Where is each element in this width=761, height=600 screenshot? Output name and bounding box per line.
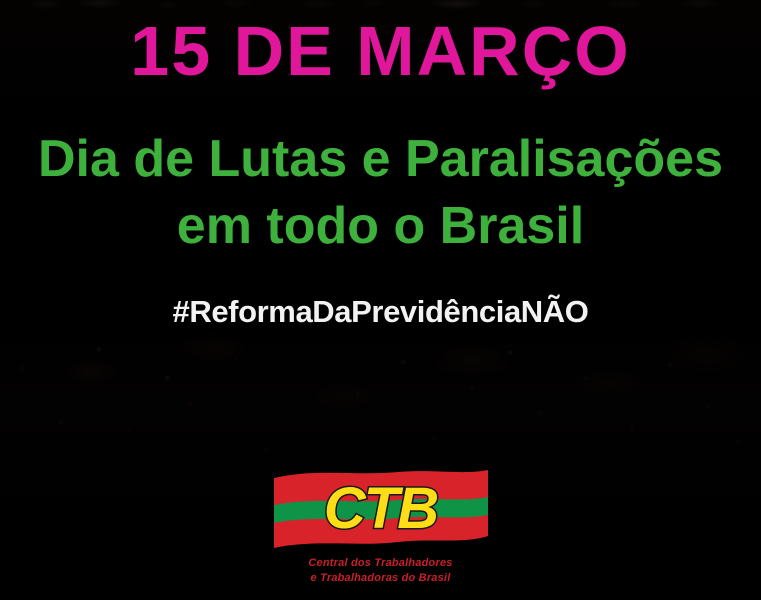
poster-hashtag: #ReformaDaPrevidênciaNÃO bbox=[0, 294, 761, 330]
poster-content: 15 DE MARÇO Dia de Lutas e Paralisações … bbox=[0, 0, 761, 600]
ctb-tagline: Central dos Trabalhadores e Trabalhadora… bbox=[266, 556, 496, 586]
ctb-tagline-line-2: e Trabalhadoras do Brasil bbox=[266, 571, 496, 586]
ctb-logo: CTB Central dos Trabalhadores e Trabalha… bbox=[266, 464, 496, 592]
ctb-flag-icon bbox=[266, 464, 496, 556]
poster-subheadline: Dia de Lutas e Paralisações em todo o Br… bbox=[0, 126, 761, 259]
subheadline-line-2: em todo o Brasil bbox=[0, 193, 761, 260]
protest-poster: 15 DE MARÇO Dia de Lutas e Paralisações … bbox=[0, 0, 761, 600]
ctb-tagline-line-1: Central dos Trabalhadores bbox=[266, 556, 496, 571]
subheadline-line-1: Dia de Lutas e Paralisações bbox=[0, 126, 761, 193]
poster-headline-date: 15 DE MARÇO bbox=[0, 16, 761, 86]
